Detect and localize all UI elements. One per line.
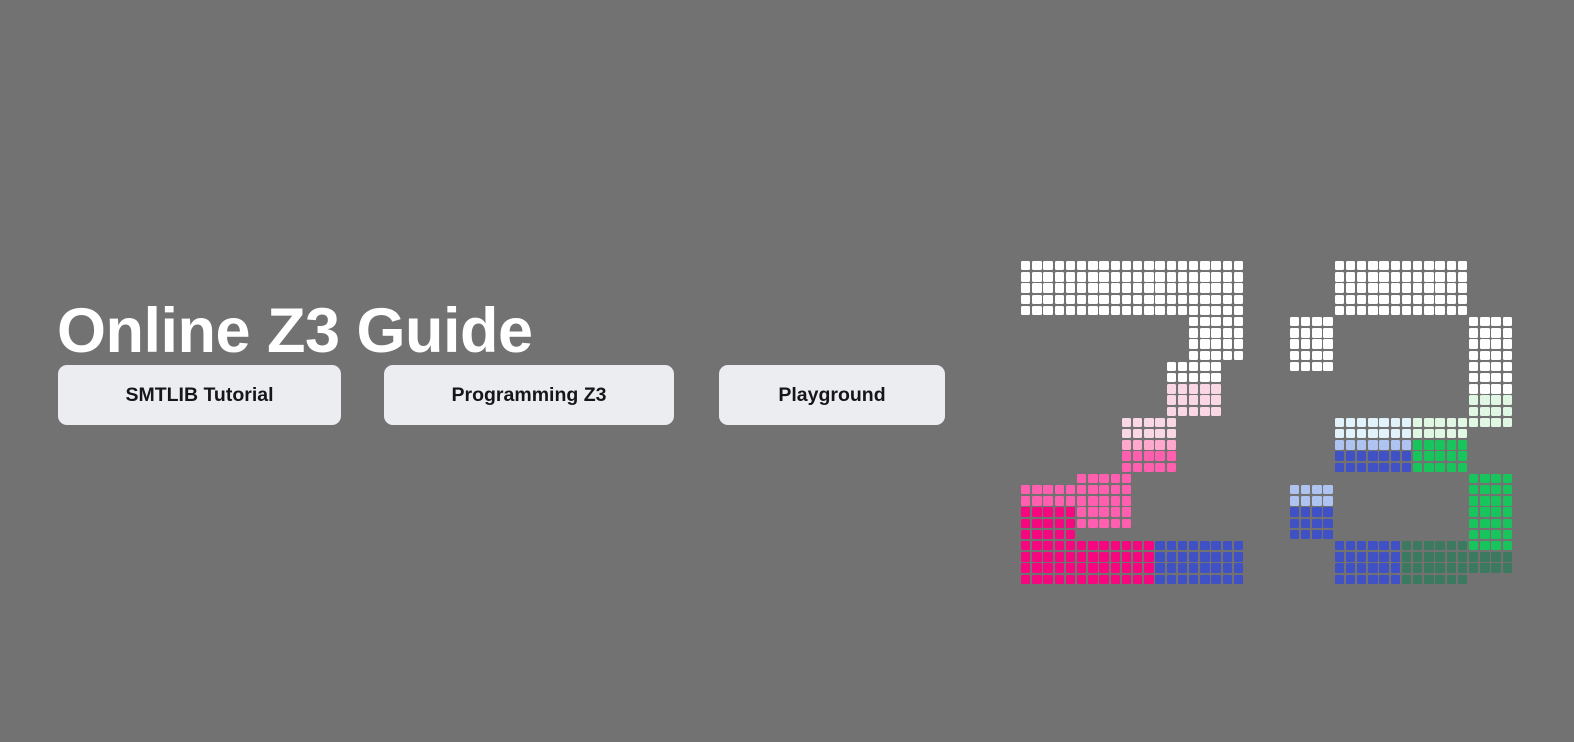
logo-pixel-3 [1290,496,1299,505]
logo-pixel-3 [1480,530,1489,539]
logo-pixel-3 [1491,395,1500,404]
logo-pixel-Z [1223,351,1232,360]
logo-pixel-Z [1032,541,1041,550]
logo-pixel-3 [1435,306,1444,315]
logo-pixel-3 [1491,407,1500,416]
logo-pixel-3 [1290,485,1299,494]
logo-pixel-Z [1211,407,1220,416]
logo-pixel-Z [1066,507,1075,516]
logo-pixel-3 [1503,496,1512,505]
logo-pixel-3 [1402,261,1411,270]
logo-pixel-Z [1200,575,1209,584]
logo-pixel-3 [1368,552,1377,561]
logo-pixel-Z [1211,295,1220,304]
logo-pixel-3 [1357,451,1366,460]
logo-pixel-3 [1503,418,1512,427]
logo-pixel-Z [1021,541,1030,550]
logo-pixel-3 [1368,451,1377,460]
logo-pixel-Z [1111,552,1120,561]
logo-pixel-3 [1480,339,1489,348]
logo-pixel-3 [1402,418,1411,427]
logo-pixel-3 [1435,272,1444,281]
logo-pixel-Z [1099,496,1108,505]
smtlib-tutorial-button[interactable]: SMTLIB Tutorial [58,365,341,425]
logo-pixel-Z [1055,530,1064,539]
logo-pixel-3 [1480,418,1489,427]
hero-section: Online Z3 Guide SMTLIB Tutorial Programm… [0,0,1574,742]
logo-pixel-3 [1379,575,1388,584]
logo-pixel-Z [1189,283,1198,292]
logo-pixel-Z [1032,530,1041,539]
logo-pixel-3 [1391,295,1400,304]
logo-pixel-3 [1413,552,1422,561]
logo-pixel-3 [1335,295,1344,304]
logo-pixel-3 [1290,362,1299,371]
logo-pixel-Z [1234,575,1243,584]
logo-pixel-3 [1469,395,1478,404]
logo-pixel-3 [1503,474,1512,483]
logo-pixel-3 [1435,429,1444,438]
logo-pixel-3 [1391,575,1400,584]
logo-pixel-Z [1099,261,1108,270]
logo-pixel-3 [1368,418,1377,427]
logo-pixel-3 [1413,272,1422,281]
logo-pixel-Z [1032,507,1041,516]
logo-pixel-3 [1323,507,1332,516]
logo-pixel-Z [1167,451,1176,460]
logo-pixel-3 [1357,306,1366,315]
logo-pixel-3 [1491,485,1500,494]
logo-pixel-Z [1234,541,1243,550]
logo-pixel-Z [1144,272,1153,281]
logo-pixel-3 [1503,317,1512,326]
logo-pixel-3 [1357,283,1366,292]
logo-pixel-Z [1155,429,1164,438]
logo-pixel-Z [1088,519,1097,528]
logo-pixel-3 [1346,552,1355,561]
logo-pixel-3 [1458,418,1467,427]
logo-pixel-Z [1043,496,1052,505]
logo-pixel-Z [1032,306,1041,315]
logo-pixel-3 [1301,351,1310,360]
logo-pixel-3 [1458,463,1467,472]
logo-pixel-Z [1099,541,1108,550]
logo-pixel-3 [1357,563,1366,572]
logo-pixel-3 [1435,463,1444,472]
logo-pixel-Z [1077,485,1086,494]
logo-pixel-Z [1155,451,1164,460]
logo-pixel-Z [1178,552,1187,561]
logo-pixel-Z [1200,261,1209,270]
logo-pixel-3 [1312,507,1321,516]
logo-pixel-Z [1066,283,1075,292]
logo-pixel-Z [1167,563,1176,572]
logo-pixel-Z [1055,272,1064,281]
logo-pixel-Z [1200,552,1209,561]
logo-pixel-Z [1122,575,1131,584]
logo-pixel-3 [1346,306,1355,315]
logo-pixel-3 [1469,351,1478,360]
logo-pixel-Z [1021,306,1030,315]
logo-pixel-Z [1167,429,1176,438]
logo-pixel-3 [1290,339,1299,348]
logo-pixel-Z [1200,306,1209,315]
logo-pixel-Z [1111,261,1120,270]
logo-pixel-3 [1301,530,1310,539]
logo-pixel-3 [1503,351,1512,360]
logo-pixel-Z [1055,283,1064,292]
logo-pixel-3 [1402,563,1411,572]
programming-z3-button[interactable]: Programming Z3 [384,365,674,425]
logo-pixel-Z [1200,407,1209,416]
logo-pixel-3 [1469,530,1478,539]
logo-pixel-3 [1424,283,1433,292]
logo-pixel-Z [1144,418,1153,427]
logo-pixel-Z [1144,451,1153,460]
logo-pixel-3 [1312,485,1321,494]
logo-pixel-Z [1032,295,1041,304]
logo-pixel-3 [1379,261,1388,270]
logo-pixel-3 [1335,552,1344,561]
logo-pixel-3 [1458,295,1467,304]
logo-pixel-3 [1379,563,1388,572]
logo-pixel-Z [1021,261,1030,270]
logo-pixel-3 [1357,541,1366,550]
logo-pixel-Z [1043,306,1052,315]
logo-pixel-Z [1032,283,1041,292]
logo-pixel-Z [1211,395,1220,404]
logo-pixel-3 [1346,272,1355,281]
logo-pixel-3 [1435,440,1444,449]
logo-pixel-Z [1043,552,1052,561]
logo-pixel-Z [1077,283,1086,292]
logo-pixel-3 [1413,575,1422,584]
logo-pixel-Z [1122,440,1131,449]
logo-pixel-3 [1491,552,1500,561]
logo-pixel-3 [1424,451,1433,460]
logo-pixel-3 [1480,407,1489,416]
logo-pixel-3 [1346,418,1355,427]
logo-pixel-3 [1335,575,1344,584]
logo-pixel-3 [1357,295,1366,304]
logo-pixel-Z [1189,552,1198,561]
logo-pixel-3 [1379,541,1388,550]
logo-pixel-Z [1021,496,1030,505]
logo-pixel-Z [1223,339,1232,348]
logo-pixel-Z [1122,463,1131,472]
logo-pixel-3 [1491,351,1500,360]
logo-pixel-Z [1077,295,1086,304]
logo-pixel-Z [1167,407,1176,416]
logo-pixel-3 [1402,575,1411,584]
logo-pixel-Z [1178,407,1187,416]
logo-pixel-Z [1099,295,1108,304]
logo-pixel-3 [1368,541,1377,550]
logo-pixel-Z [1189,306,1198,315]
logo-pixel-3 [1447,283,1456,292]
logo-pixel-3 [1379,463,1388,472]
logo-pixel-Z [1111,272,1120,281]
logo-pixel-3 [1402,541,1411,550]
logo-pixel-Z [1211,541,1220,550]
logo-pixel-Z [1155,418,1164,427]
logo-pixel-3 [1424,575,1433,584]
logo-pixel-Z [1189,362,1198,371]
logo-pixel-Z [1144,261,1153,270]
logo-pixel-3 [1323,362,1332,371]
logo-pixel-Z [1043,519,1052,528]
logo-pixel-Z [1088,283,1097,292]
logo-pixel-3 [1413,541,1422,550]
logo-pixel-3 [1469,507,1478,516]
logo-pixel-3 [1503,328,1512,337]
logo-pixel-3 [1480,519,1489,528]
logo-pixel-3 [1402,429,1411,438]
logo-pixel-3 [1368,575,1377,584]
logo-pixel-Z [1200,272,1209,281]
logo-pixel-Z [1167,395,1176,404]
logo-pixel-Z [1043,272,1052,281]
logo-pixel-Z [1111,496,1120,505]
logo-pixel-3 [1480,395,1489,404]
logo-pixel-3 [1458,541,1467,550]
logo-pixel-Z [1077,496,1086,505]
logo-pixel-3 [1346,429,1355,438]
logo-pixel-3 [1368,283,1377,292]
logo-pixel-3 [1357,552,1366,561]
logo-pixel-3 [1312,328,1321,337]
logo-pixel-3 [1447,295,1456,304]
logo-pixel-Z [1032,552,1041,561]
logo-pixel-Z [1099,306,1108,315]
logo-pixel-Z [1155,440,1164,449]
logo-pixel-3 [1491,339,1500,348]
logo-pixel-Z [1189,317,1198,326]
logo-pixel-Z [1189,328,1198,337]
logo-pixel-Z [1122,563,1131,572]
logo-pixel-3 [1368,563,1377,572]
logo-pixel-Z [1066,575,1075,584]
logo-pixel-3 [1402,306,1411,315]
logo-pixel-3 [1413,429,1422,438]
logo-pixel-3 [1469,328,1478,337]
logo-pixel-3 [1368,306,1377,315]
logo-pixel-3 [1424,261,1433,270]
logo-pixel-3 [1435,575,1444,584]
logo-pixel-Z [1099,474,1108,483]
logo-pixel-Z [1234,272,1243,281]
logo-pixel-3 [1290,507,1299,516]
logo-pixel-Z [1099,283,1108,292]
logo-pixel-Z [1200,328,1209,337]
logo-pixel-Z [1223,317,1232,326]
logo-pixel-Z [1211,328,1220,337]
logo-pixel-Z [1066,272,1075,281]
logo-pixel-3 [1357,272,1366,281]
logo-pixel-Z [1088,306,1097,315]
logo-pixel-3 [1368,272,1377,281]
logo-pixel-3 [1413,295,1422,304]
logo-pixel-3 [1491,496,1500,505]
logo-pixel-Z [1077,563,1086,572]
logo-pixel-3 [1480,541,1489,550]
logo-pixel-3 [1413,261,1422,270]
logo-pixel-Z [1066,295,1075,304]
logo-pixel-3 [1469,519,1478,528]
logo-pixel-3 [1503,552,1512,561]
page-title: Online Z3 Guide [57,300,533,363]
logo-pixel-3 [1290,519,1299,528]
logo-pixel-3 [1480,552,1489,561]
logo-pixel-Z [1189,261,1198,270]
logo-pixel-3 [1491,474,1500,483]
playground-button[interactable]: Playground [719,365,945,425]
logo-pixel-3 [1312,339,1321,348]
logo-pixel-Z [1178,306,1187,315]
logo-pixel-Z [1211,351,1220,360]
logo-pixel-Z [1144,575,1153,584]
logo-pixel-Z [1189,373,1198,382]
logo-pixel-3 [1503,541,1512,550]
logo-pixel-Z [1223,306,1232,315]
logo-pixel-3 [1402,440,1411,449]
logo-pixel-Z [1043,261,1052,270]
logo-pixel-3 [1301,339,1310,348]
logo-pixel-Z [1077,306,1086,315]
logo-pixel-3 [1503,395,1512,404]
logo-pixel-3 [1503,373,1512,382]
logo-pixel-Z [1133,418,1142,427]
logo-pixel-Z [1122,272,1131,281]
logo-pixel-3 [1368,463,1377,472]
logo-pixel-Z [1088,261,1097,270]
logo-pixel-Z [1099,575,1108,584]
logo-pixel-Z [1133,295,1142,304]
logo-pixel-Z [1189,384,1198,393]
logo-pixel-Z [1178,373,1187,382]
logo-pixel-Z [1111,563,1120,572]
logo-pixel-Z [1167,552,1176,561]
logo-pixel-3 [1503,407,1512,416]
logo-pixel-Z [1088,552,1097,561]
logo-pixel-3 [1447,563,1456,572]
logo-pixel-3 [1413,463,1422,472]
logo-pixel-Z [1088,575,1097,584]
logo-pixel-Z [1133,451,1142,460]
logo-pixel-3 [1301,485,1310,494]
logo-pixel-Z [1088,485,1097,494]
logo-pixel-3 [1424,541,1433,550]
logo-pixel-3 [1491,317,1500,326]
logo-pixel-3 [1435,541,1444,550]
logo-pixel-Z [1099,519,1108,528]
logo-pixel-3 [1469,384,1478,393]
logo-pixel-Z [1211,552,1220,561]
logo-pixel-Z [1189,395,1198,404]
logo-pixel-Z [1043,530,1052,539]
logo-pixel-3 [1424,295,1433,304]
logo-pixel-Z [1144,440,1153,449]
logo-pixel-3 [1469,418,1478,427]
logo-pixel-3 [1424,463,1433,472]
logo-pixel-Z [1178,384,1187,393]
logo-pixel-Z [1234,552,1243,561]
logo-pixel-3 [1480,563,1489,572]
logo-pixel-3 [1447,429,1456,438]
logo-pixel-Z [1088,541,1097,550]
logo-pixel-3 [1424,418,1433,427]
logo-pixel-Z [1234,295,1243,304]
logo-pixel-3 [1458,306,1467,315]
logo-pixel-3 [1357,261,1366,270]
logo-pixel-3 [1301,496,1310,505]
logo-pixel-3 [1447,552,1456,561]
logo-pixel-Z [1066,530,1075,539]
logo-pixel-3 [1503,507,1512,516]
logo-pixel-3 [1469,317,1478,326]
logo-pixel-3 [1413,563,1422,572]
logo-pixel-3 [1357,418,1366,427]
logo-pixel-Z [1167,541,1176,550]
logo-pixel-3 [1469,407,1478,416]
logo-pixel-Z [1155,283,1164,292]
logo-pixel-Z [1021,507,1030,516]
logo-pixel-3 [1335,418,1344,427]
logo-pixel-Z [1122,485,1131,494]
logo-pixel-3 [1391,272,1400,281]
logo-pixel-3 [1480,317,1489,326]
logo-pixel-Z [1200,339,1209,348]
logo-pixel-Z [1155,306,1164,315]
logo-pixel-3 [1391,418,1400,427]
logo-pixel-Z [1032,496,1041,505]
logo-pixel-Z [1077,519,1086,528]
logo-pixel-3 [1346,295,1355,304]
logo-pixel-Z [1043,563,1052,572]
logo-pixel-3 [1424,440,1433,449]
logo-pixel-Z [1200,283,1209,292]
logo-pixel-Z [1167,384,1176,393]
logo-pixel-Z [1021,530,1030,539]
logo-pixel-3 [1503,519,1512,528]
logo-pixel-Z [1223,272,1232,281]
logo-pixel-Z [1155,563,1164,572]
logo-pixel-Z [1234,328,1243,337]
logo-pixel-Z [1211,575,1220,584]
logo-pixel-Z [1043,295,1052,304]
logo-pixel-3 [1290,328,1299,337]
logo-pixel-Z [1088,496,1097,505]
logo-pixel-Z [1055,519,1064,528]
logo-pixel-3 [1469,563,1478,572]
logo-pixel-Z [1200,351,1209,360]
logo-pixel-Z [1055,552,1064,561]
logo-pixel-3 [1480,507,1489,516]
logo-pixel-3 [1290,351,1299,360]
logo-pixel-Z [1088,272,1097,281]
logo-pixel-3 [1424,563,1433,572]
logo-pixel-Z [1211,384,1220,393]
logo-pixel-Z [1122,552,1131,561]
logo-pixel-Z [1234,306,1243,315]
logo-pixel-3 [1402,463,1411,472]
logo-pixel-3 [1323,519,1332,528]
logo-pixel-Z [1099,563,1108,572]
logo-pixel-3 [1469,485,1478,494]
logo-pixel-Z [1099,507,1108,516]
logo-pixel-3 [1323,317,1332,326]
logo-pixel-Z [1122,295,1131,304]
